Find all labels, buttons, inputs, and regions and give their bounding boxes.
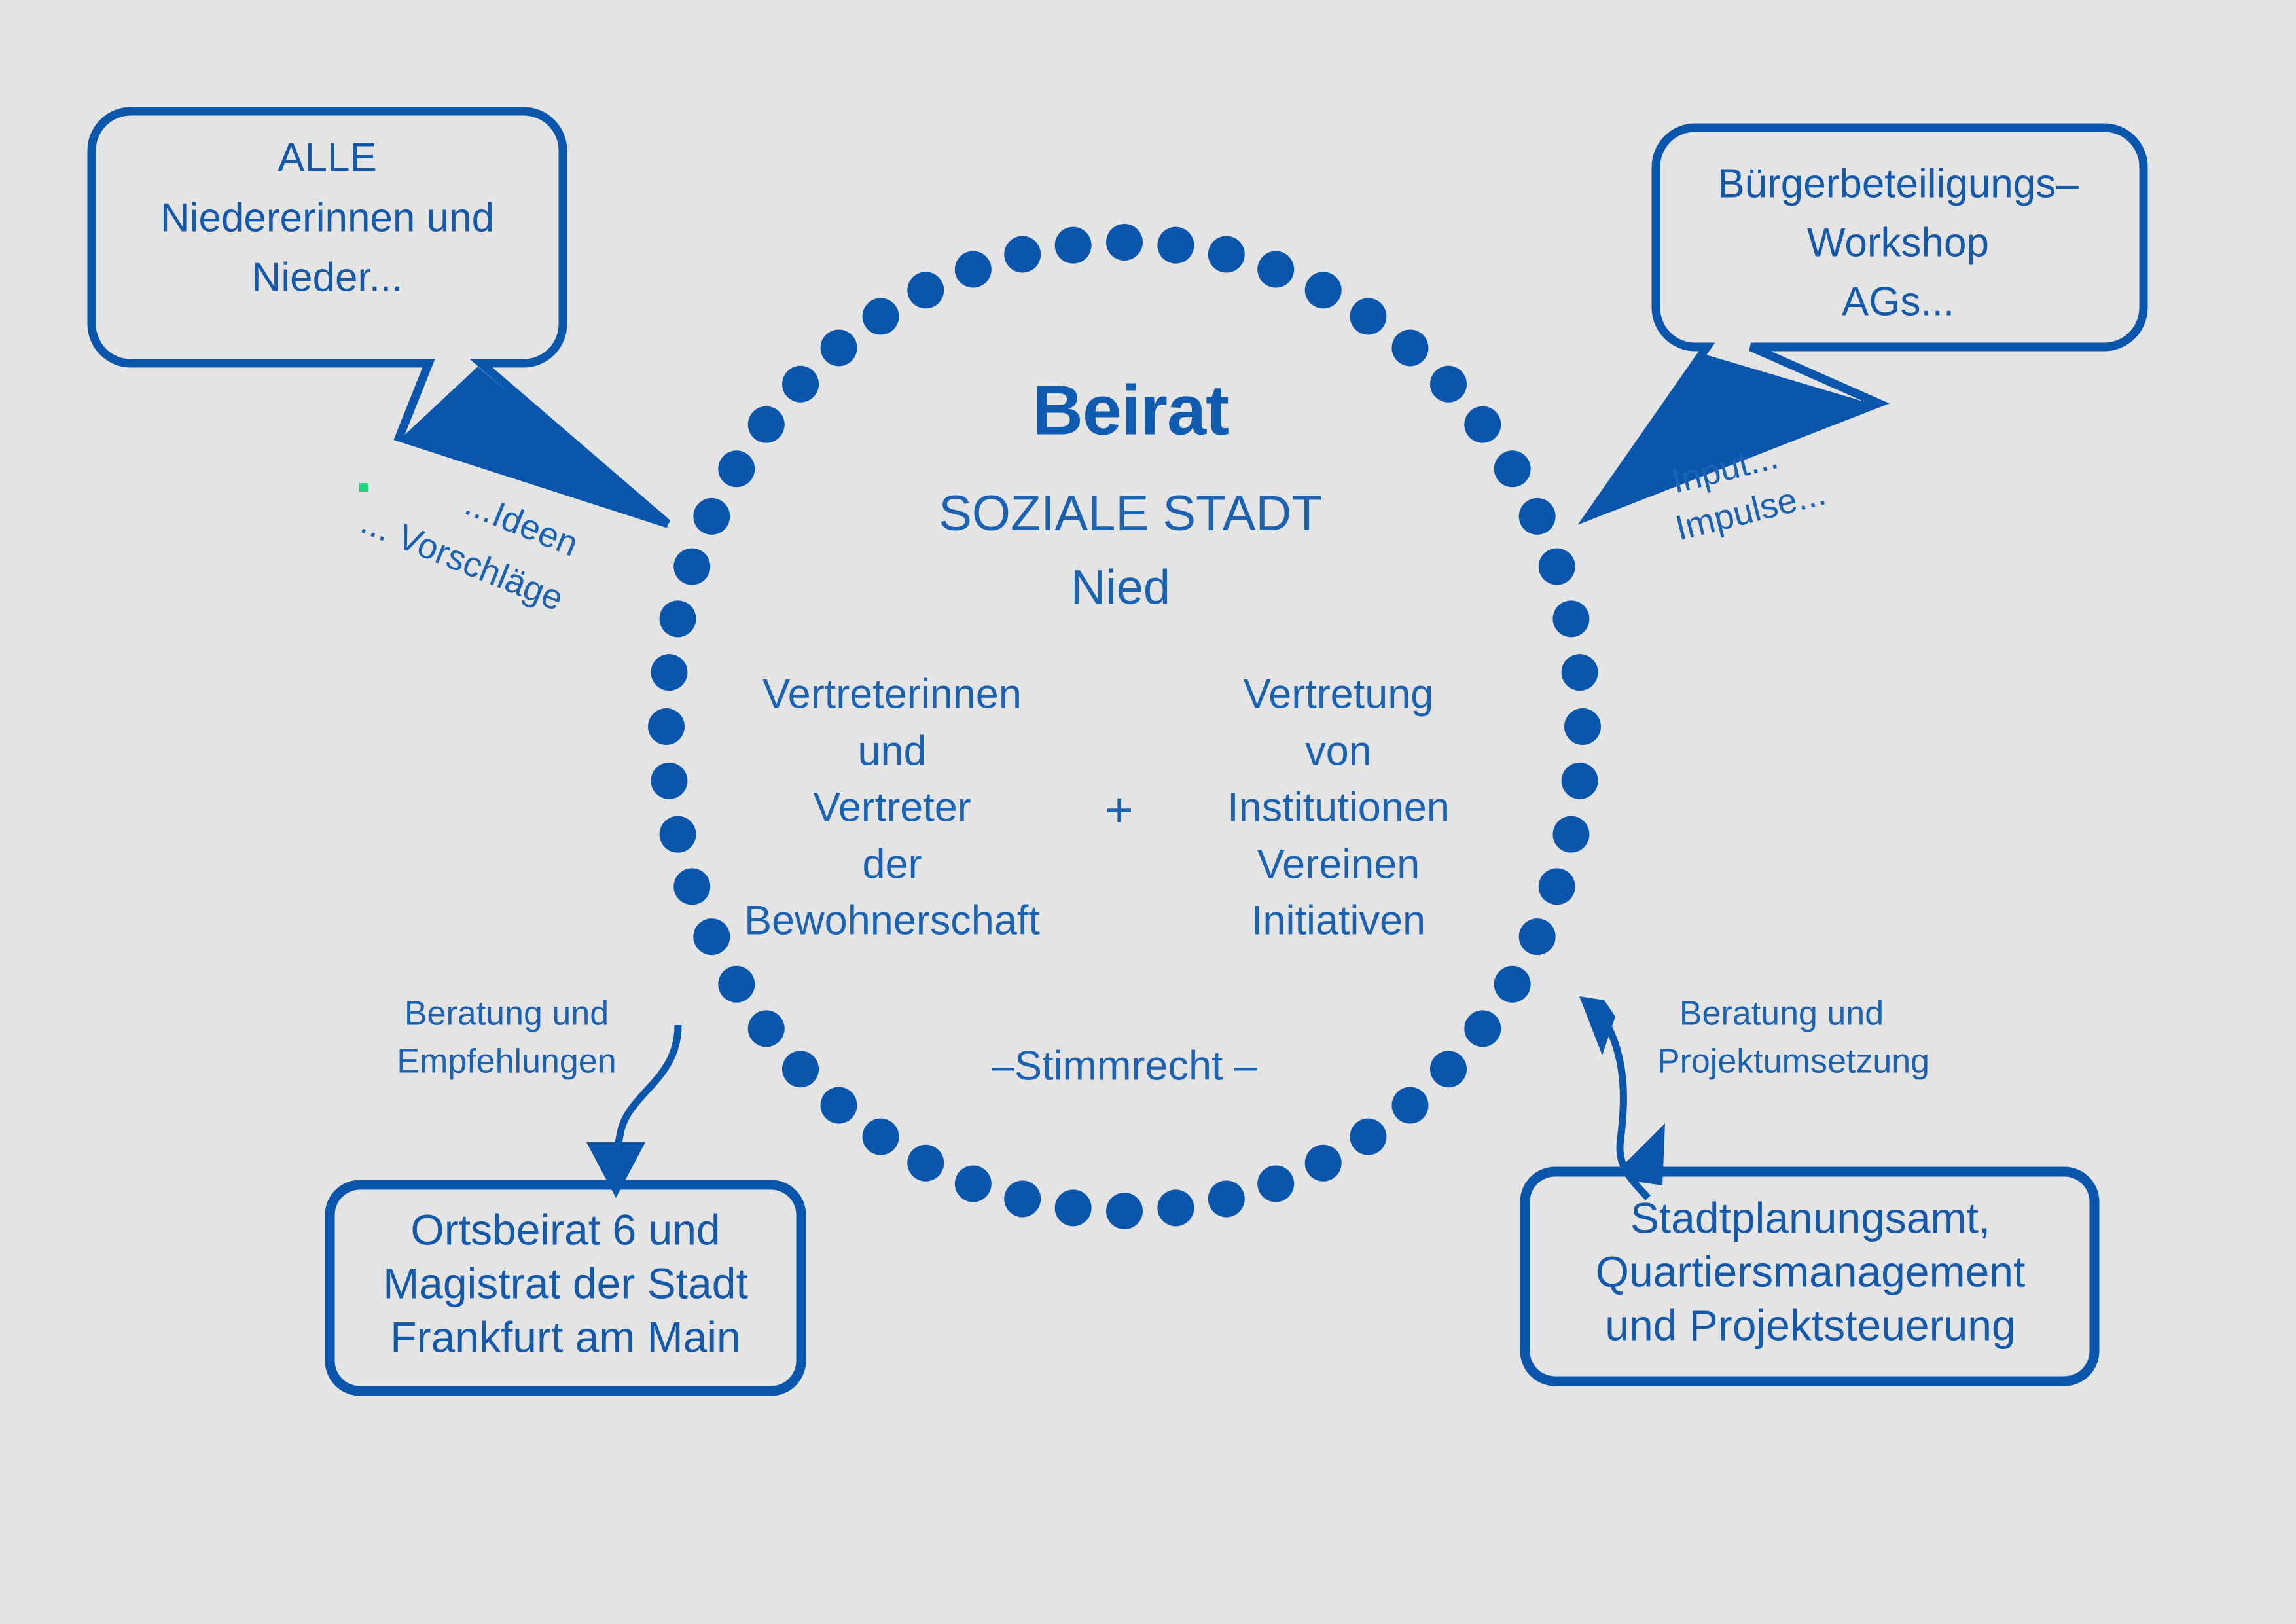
box-bottom-right-line-1: Stadtplanungsamt, (1630, 1193, 1990, 1242)
circle-dot (782, 1051, 819, 1087)
center-plus-operator: + (1105, 783, 1133, 837)
circle-dot (748, 1010, 785, 1047)
bubble-top-left-line-2: Niedererinnen und (160, 195, 494, 240)
circle-dot (748, 406, 785, 443)
circle-dot (1562, 654, 1598, 691)
circle-dot (1257, 251, 1294, 288)
circle-dot (651, 654, 687, 691)
bubble-top-left[interactable]: ALLE Niedererinnen und Nieder... (92, 111, 669, 528)
circle-dot (1562, 763, 1598, 799)
circle-dot (1464, 1010, 1501, 1047)
bubble-top-right-line-2: Workshop (1807, 220, 1989, 265)
box-bottom-right-line-2: Quartiersmanagement (1596, 1247, 2026, 1295)
center-left-col-line-1: Vertreterinnen (762, 672, 1022, 717)
box-bottom-right[interactable]: Stadtplanungsamt, Quartiersmanagement un… (1525, 1172, 2094, 1381)
circle-dot (1350, 298, 1386, 334)
center-right-col-line-4: Vereinen (1257, 842, 1420, 888)
circle-dot (673, 868, 710, 905)
box-bottom-left-line-3: Frankfurt am Main (390, 1312, 740, 1361)
bubble-top-left-line-3: Nieder... (252, 255, 403, 300)
circle-dot (1494, 966, 1531, 1003)
center-left-col-line-3: Vertreter (813, 785, 971, 831)
circle-dot (863, 298, 899, 334)
bubble-top-right[interactable]: Bürgerbeteiligungs– Workshop AGs... (1589, 128, 2144, 517)
green-speck-marker (359, 483, 368, 492)
circle-dot (1552, 600, 1589, 637)
bubble-top-left-line-1: ALLE (278, 135, 377, 180)
circle-dot (718, 450, 755, 487)
box-bottom-left[interactable]: Ortsbeirat 6 und Magistrat der Stadt Fra… (330, 1185, 801, 1391)
center-content: Beirat SOZIALE STADT Nied Vertreterinnen… (744, 370, 1450, 1089)
circle-dot (1391, 1087, 1428, 1124)
circle-dot (1464, 406, 1501, 443)
center-subtitle-line-2: Nied (1071, 560, 1170, 615)
diagram-canvas: ALLE Niedererinnen und Nieder... Bürgerb… (0, 0, 2296, 1624)
circle-dot (1257, 1165, 1294, 1202)
circle-dot (907, 272, 944, 308)
center-right-col-line-2: von (1305, 729, 1372, 774)
circle-dot (718, 966, 755, 1003)
box-bottom-left-line-1: Ortsbeirat 6 und (410, 1205, 720, 1254)
circle-dot (1106, 224, 1143, 261)
annotation-ideen-vorschlaege: ...Ideen ... Vorschläge (355, 483, 583, 619)
center-left-col-line-5: Bewohnerschaft (744, 898, 1040, 944)
bubble-top-right-tail (1593, 353, 1878, 517)
circle-dot (1539, 549, 1575, 585)
center-subtitle-line-1: SOZIALE STADT (939, 486, 1322, 541)
circle-dot (821, 1087, 857, 1124)
circle-dot (673, 549, 710, 585)
circle-dot (1350, 1119, 1386, 1155)
circle-dot (693, 918, 730, 955)
circle-dot (955, 1165, 992, 1202)
circle-dot (1391, 329, 1428, 366)
circle-dot (1539, 868, 1575, 905)
circle-dot (1519, 918, 1556, 955)
circle-dot (1004, 1180, 1041, 1217)
circle-dot (1305, 272, 1342, 308)
circle-dot (1430, 366, 1467, 403)
circle-dot (907, 1145, 944, 1182)
circle-dot (1552, 816, 1589, 853)
circle-dot (1305, 1145, 1342, 1182)
circle-dot (821, 329, 857, 366)
bubble-top-right-line-1: Bürgerbeteiligungs– (1717, 161, 2079, 206)
beirat-soziale-stadt-diagram: ALLE Niedererinnen und Nieder... Bürgerb… (0, 0, 2296, 1624)
label-beratung-projektumsetzung-line-1: Beratung und (1679, 995, 1884, 1033)
circle-dot (1564, 708, 1601, 745)
center-left-col-line-4: der (862, 842, 922, 888)
circle-dot (863, 1119, 899, 1155)
circle-dot (1157, 1189, 1194, 1226)
circle-dot (693, 498, 730, 535)
circle-dot (1055, 1189, 1092, 1226)
arrow-beratung-empfehlungen: Beratung und Empfehlungen (397, 995, 678, 1198)
circle-dot (1430, 1051, 1467, 1087)
label-beratung-projektumsetzung-line-2: Projektumsetzung (1657, 1043, 1929, 1081)
arrow-beratung-projektumsetzung-head-up (1579, 996, 1615, 1055)
circle-dot (1494, 450, 1531, 487)
bubble-top-right-line-3: AGs... (1842, 279, 1954, 324)
circle-dot (1519, 498, 1556, 535)
label-beratung-empfehlungen-line-1: Beratung und (404, 995, 609, 1033)
circle-dot (782, 366, 819, 403)
circle-dot (1106, 1193, 1143, 1229)
circle-dot (660, 600, 696, 637)
box-bottom-left-line-2: Magistrat der Stadt (383, 1259, 748, 1307)
circle-dot (1208, 236, 1245, 273)
box-bottom-right-line-3: und Projektsteuerung (1605, 1301, 2015, 1349)
circle-dot (1208, 1180, 1245, 1217)
center-footnote-stimmrecht: –Stimmrecht – (992, 1043, 1257, 1089)
circle-dot (955, 251, 992, 288)
circle-dot (1055, 227, 1092, 264)
circle-dot (1004, 236, 1041, 273)
circle-dot (1157, 227, 1194, 264)
center-title: Beirat (1032, 370, 1229, 450)
circle-dot (660, 816, 696, 853)
circle-dot (651, 763, 687, 799)
center-left-col-line-2: und (857, 729, 926, 774)
center-right-col-line-3: Institutionen (1227, 785, 1450, 831)
center-right-col-line-5: Initiativen (1251, 898, 1426, 944)
circle-dot (648, 708, 685, 745)
center-right-col-line-1: Vertretung (1244, 672, 1434, 717)
label-beratung-empfehlungen-line-2: Empfehlungen (397, 1043, 616, 1081)
